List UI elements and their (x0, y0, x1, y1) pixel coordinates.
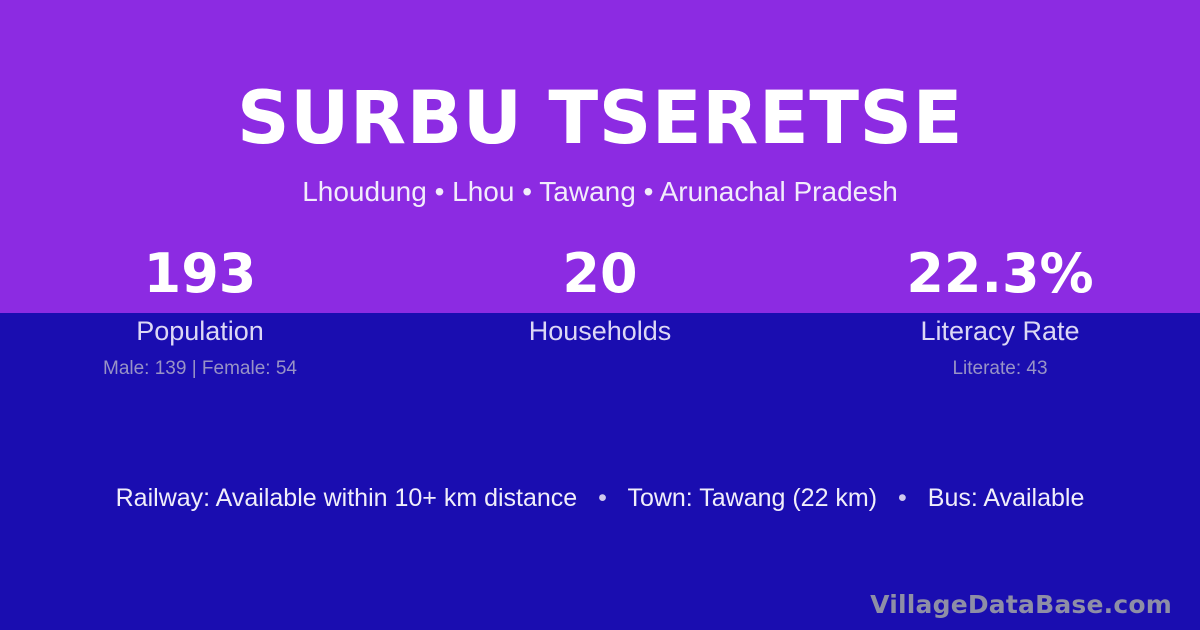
stat-population: 193 Population Male: 139 | Female: 54 (0, 247, 400, 378)
header-block: SURBU TSERETSE Lhoudung • Lhou • Tawang … (0, 0, 1200, 206)
site-watermark: VillageDataBase.com (870, 592, 1172, 617)
stat-sub: Literate: 43 (800, 345, 1200, 378)
fact-railway: Railway: Available within 10+ km distanc… (116, 484, 578, 512)
stat-label: Literacy Rate (800, 303, 1200, 345)
amenities-line: Railway: Available within 10+ km distanc… (0, 486, 1200, 511)
stat-label: Households (400, 303, 800, 345)
fact-separator-icon: • (884, 484, 921, 512)
fact-separator-icon: • (584, 484, 621, 512)
stats-row: 193 Population Male: 139 | Female: 54 20… (0, 247, 1200, 378)
stat-sub (400, 345, 800, 378)
breadcrumb: Lhoudung • Lhou • Tawang • Arunachal Pra… (0, 155, 1200, 206)
stat-literacy-rate: 22.3% Literacy Rate Literate: 43 (800, 247, 1200, 378)
page-title: SURBU TSERETSE (0, 0, 1200, 155)
stat-sub: Male: 139 | Female: 54 (0, 345, 400, 378)
village-info-card: SURBU TSERETSE Lhoudung • Lhou • Tawang … (0, 0, 1200, 630)
stat-households: 20 Households (400, 247, 800, 378)
stat-value: 193 (0, 247, 400, 303)
stat-label: Population (0, 303, 400, 345)
fact-town: Town: Tawang (22 km) (627, 484, 877, 512)
stat-value: 22.3% (800, 247, 1200, 303)
stat-value: 20 (400, 247, 800, 303)
fact-bus: Bus: Available (928, 484, 1085, 512)
